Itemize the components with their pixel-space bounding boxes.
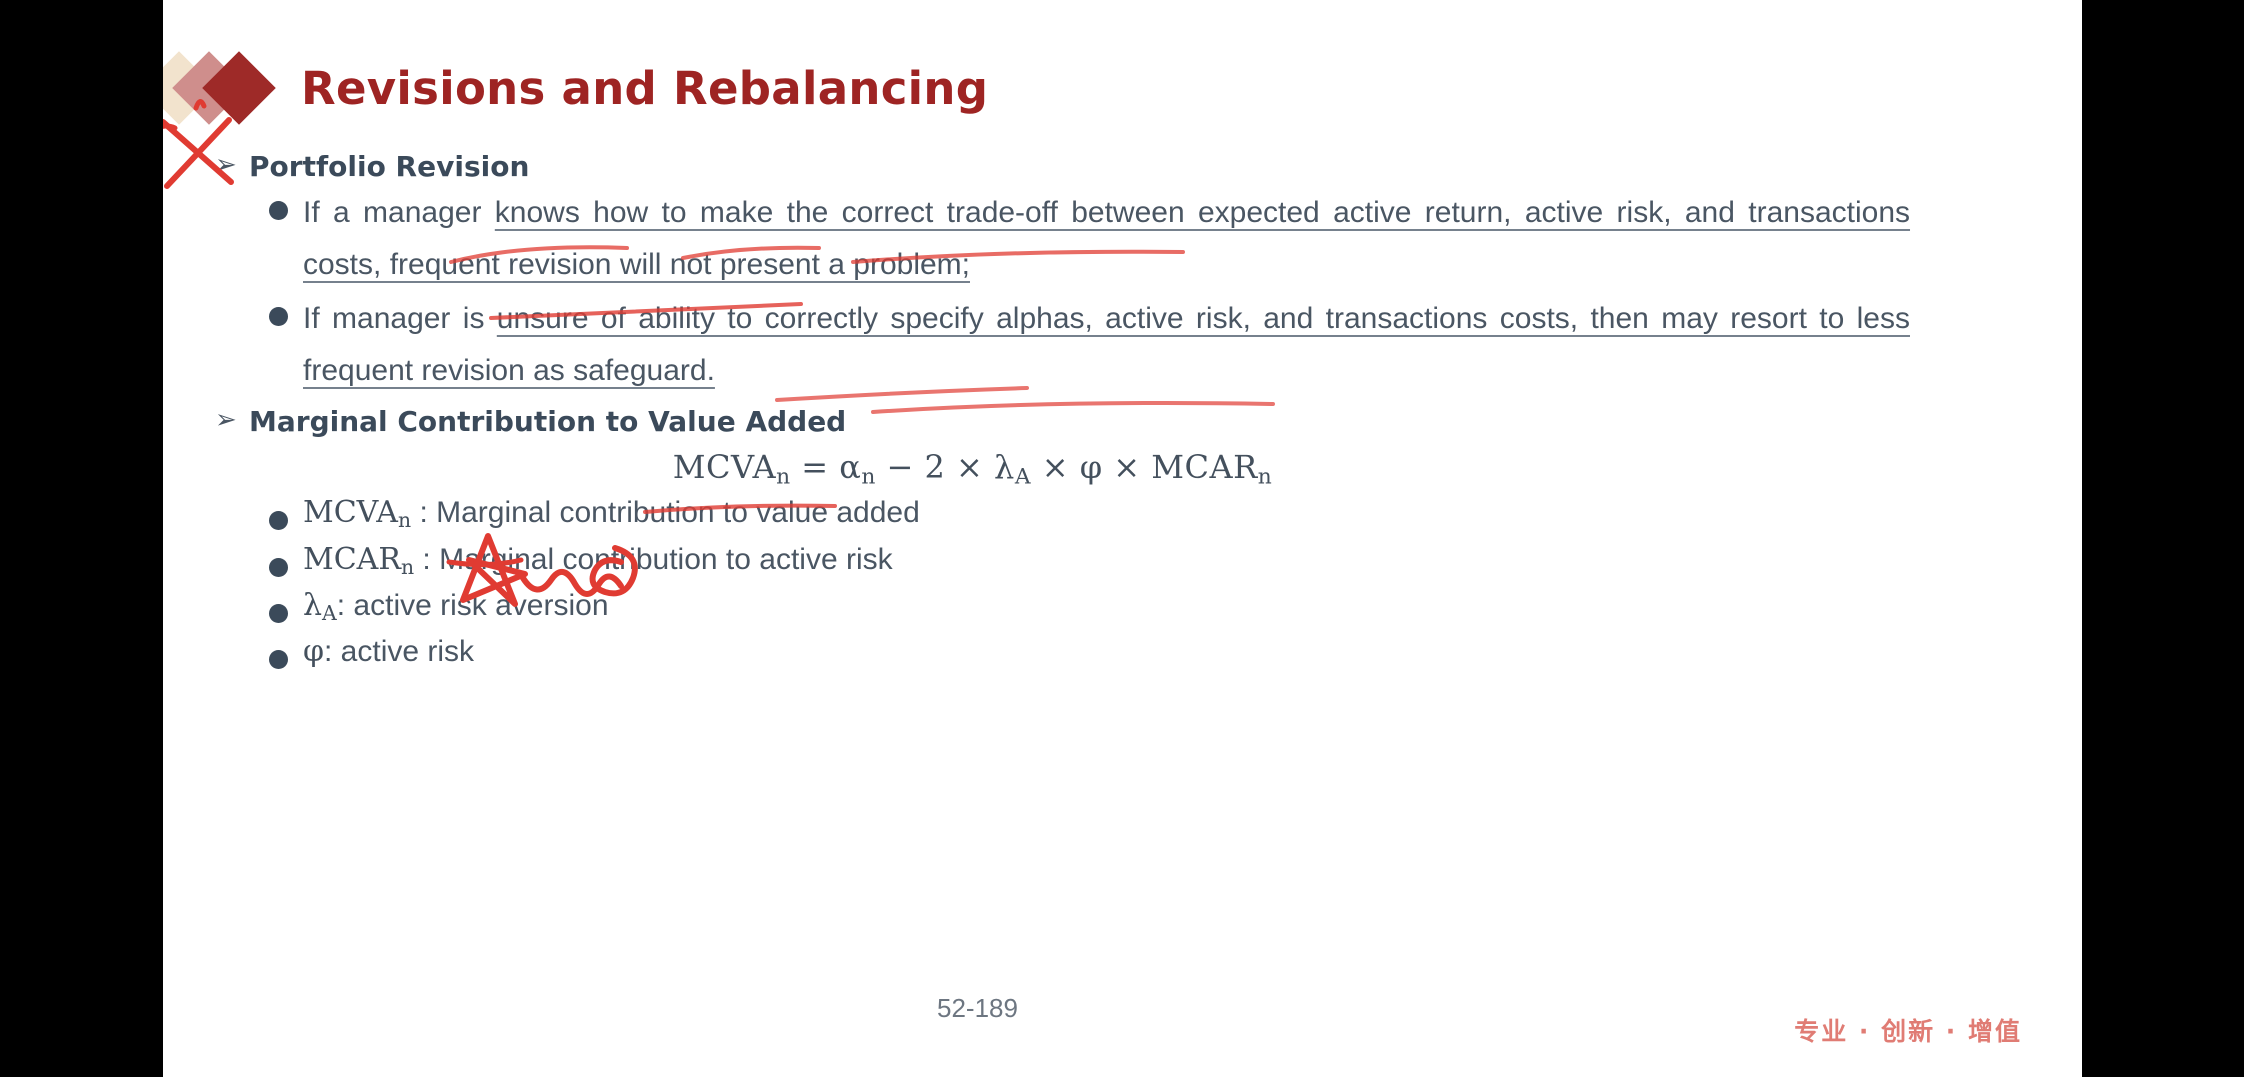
- arrow-bullet-icon: ➢: [215, 407, 237, 433]
- formula-lhs: MCVA: [673, 448, 776, 486]
- bullet-paragraph-1: If a manager knows how to make the corre…: [303, 187, 1910, 291]
- bullet-dot-icon: [269, 558, 288, 577]
- list-item: MCARn : Marginal contribution to active …: [163, 542, 2082, 579]
- heading-marginal-contribution-label: Marginal Contribution to Value Added: [249, 405, 846, 438]
- bullet-2-lead: If manager is: [303, 302, 497, 335]
- bullet-paragraph-2: If manager is unsure of ability to corre…: [303, 293, 1910, 397]
- arrow-bullet-icon: ➢: [215, 152, 237, 178]
- slide-stage: Revisions and Rebalancing ➢ Portfolio Re…: [0, 0, 2244, 1077]
- formula-times-2: ×: [1103, 448, 1152, 486]
- definition-symbol: φ: [303, 634, 324, 669]
- formula-minus-two: − 2 ×: [876, 448, 994, 486]
- page-title: Revisions and Rebalancing: [301, 62, 988, 115]
- list-item: φ: active risk: [163, 634, 2082, 671]
- definition-text: : Marginal contribution to value added: [411, 496, 920, 529]
- definition-text: : active risk aversion: [337, 589, 609, 622]
- definition-text: : active risk: [324, 635, 474, 668]
- definition-symbol-sub: n: [401, 555, 414, 579]
- bullet-dot-icon: [269, 201, 288, 220]
- definition-symbol: λA: [303, 588, 337, 623]
- definition-symbol-sub: n: [398, 509, 411, 533]
- list-item: If manager is unsure of ability to corre…: [163, 293, 2082, 397]
- letterbox-left: [0, 0, 163, 1077]
- formula-alpha-sub: n: [861, 464, 876, 489]
- definition-symbol: MCVAn: [303, 495, 411, 530]
- formula-lhs-sub: n: [776, 464, 791, 489]
- heading-portfolio-revision: ➢ Portfolio Revision: [163, 150, 2082, 183]
- bullet-2-underlined: unsure of ability to correctly specify a…: [303, 302, 1910, 387]
- letterbox-right: [2082, 0, 2244, 1077]
- definition-symbol-base: λ: [303, 588, 322, 623]
- slide-title-row: Revisions and Rebalancing: [163, 48, 988, 128]
- slide-body: ➢ Portfolio Revision If a manager knows …: [163, 150, 2082, 680]
- formula-lambda: λ: [994, 448, 1015, 486]
- definition-symbol: MCARn: [303, 542, 414, 577]
- diamond-logo-icon: [163, 49, 293, 127]
- bullet-dot-icon: [269, 511, 288, 530]
- presentation-slide: Revisions and Rebalancing ➢ Portfolio Re…: [163, 0, 2082, 1077]
- formula-rhs-sub: n: [1258, 464, 1273, 489]
- heading-marginal-contribution: ➢ Marginal Contribution to Value Added: [163, 405, 2082, 438]
- list-item: MCVAn : Marginal contribution to value a…: [163, 495, 2082, 532]
- mcva-formula: MCVAn = αn − 2 × λA × φ × MCARn: [673, 448, 1272, 486]
- definition-symbol-sub: A: [322, 601, 337, 625]
- bullet-1-underlined: knows how to make the correct trade-off …: [303, 196, 1910, 281]
- definition-symbol-base: φ: [303, 634, 324, 669]
- formula-row: MCVAn = αn − 2 × λA × φ × MCARn: [163, 448, 2082, 489]
- formula-alpha: α: [839, 448, 861, 486]
- formula-rhs: MCAR: [1151, 448, 1257, 486]
- list-item: λA: active risk aversion: [163, 588, 2082, 625]
- formula-equals: =: [791, 448, 840, 486]
- bullet-dot-icon: [269, 604, 288, 623]
- formula-times-1: ×: [1031, 448, 1080, 486]
- definition-text: : Marginal contribution to active risk: [414, 543, 893, 576]
- list-item: If a manager knows how to make the corre…: [163, 187, 2082, 291]
- brand-slogan: 专业 · 创新 · 增值: [1794, 1012, 2022, 1048]
- bullet-1-lead: If a manager: [303, 196, 495, 229]
- formula-phi: φ: [1080, 448, 1103, 486]
- bullet-dot-icon: [269, 307, 288, 326]
- definition-symbol-base: MCAR: [303, 542, 401, 577]
- heading-portfolio-revision-label: Portfolio Revision: [249, 150, 529, 183]
- formula-lambda-sub: A: [1015, 464, 1031, 489]
- definition-symbol-base: MCVA: [303, 495, 398, 530]
- bullet-dot-icon: [269, 650, 288, 669]
